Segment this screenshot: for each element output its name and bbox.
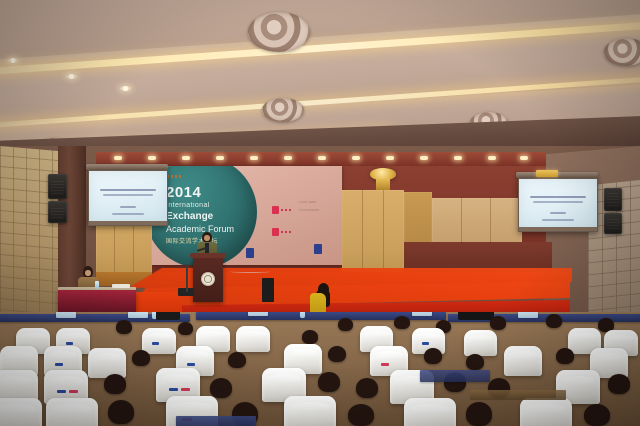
attendee-head [328, 346, 346, 362]
attendee-head [108, 400, 134, 424]
chair [464, 330, 497, 356]
audience-seating [0, 312, 640, 426]
cable [230, 270, 270, 273]
attendee-head [318, 372, 340, 392]
recessed-downlight [66, 74, 77, 79]
chair [504, 346, 542, 376]
chair [284, 396, 336, 426]
chair [142, 328, 176, 354]
attendee-head [466, 354, 484, 370]
banner-mark-label-icon [281, 231, 293, 233]
mic-stand [186, 264, 188, 292]
desk-row [420, 370, 490, 382]
wall-mounted-loudspeaker [604, 213, 622, 234]
wall-mounted-loudspeaker [604, 188, 622, 211]
attendee-head [466, 402, 492, 426]
attendee-head [338, 318, 353, 331]
attendee-head [546, 314, 562, 328]
crest-plaque [376, 179, 390, 190]
attendee-head [356, 378, 378, 398]
banner-year: 2014 [166, 184, 201, 201]
attendee-head [178, 322, 193, 335]
attendee-head [424, 348, 442, 364]
chair [0, 398, 42, 426]
auditorium-photo: 2014 International Exchange Academic For… [0, 0, 640, 426]
banner-sponsor-logo-icon [246, 248, 254, 258]
attendee-head [608, 374, 630, 394]
attendee-head [302, 330, 318, 344]
institution-seal-icon [201, 272, 215, 286]
recessed-downlight [8, 58, 18, 63]
banner-mark-icon [272, 206, 279, 214]
laptop[interactable] [518, 312, 538, 318]
stage-monitor [262, 278, 274, 302]
desk-row [176, 416, 256, 426]
equipment-case [156, 312, 180, 320]
stage-backdrop-banner: 2014 International Exchange Academic For… [151, 166, 342, 265]
exit-sign [536, 170, 558, 177]
laptop[interactable] [56, 312, 76, 318]
chair [236, 326, 270, 352]
desk-edge [470, 390, 566, 400]
attendee-head [210, 378, 232, 398]
left-projection-screen[interactable] [88, 170, 168, 226]
banner-side-text: 主办单位 / 協辦單位 [299, 202, 335, 205]
banner-logo-text-icon [167, 175, 181, 178]
air-diffuser [248, 12, 310, 52]
attendee-head [556, 348, 574, 364]
laptop[interactable] [412, 312, 432, 316]
chair [520, 398, 572, 426]
attendee-head [104, 374, 126, 394]
equipment-case [458, 312, 494, 320]
water-bottle [300, 312, 305, 318]
attendee-head [394, 316, 410, 329]
attendee-head [228, 352, 246, 368]
podium[interactable] [193, 256, 223, 302]
recessed-downlight [120, 86, 131, 91]
wall-mounted-loudspeaker [48, 174, 67, 199]
air-diffuser [604, 38, 640, 66]
laptop[interactable] [128, 312, 148, 318]
banner-mark-icon [272, 228, 279, 236]
banner-mark-label-icon [281, 209, 293, 211]
wall-mounted-loudspeaker [48, 201, 67, 223]
head-table [58, 290, 136, 314]
laptop[interactable] [248, 312, 268, 316]
chair [46, 398, 98, 426]
attendee-head [348, 404, 374, 426]
banner-line-exchange: Exchange [166, 211, 213, 222]
attendee-head [132, 350, 150, 366]
air-diffuser [262, 98, 304, 122]
water-bottle [95, 281, 99, 289]
attendee-head [490, 316, 506, 330]
chair [88, 348, 126, 378]
chair [404, 398, 456, 426]
papers [112, 284, 130, 288]
attendee-head [116, 320, 132, 334]
right-projection-screen[interactable] [518, 178, 598, 232]
banner-sponsor-logo-icon [314, 244, 322, 254]
banner-side-text: 学术交流合作项目说明 [299, 210, 335, 213]
attendee-head [584, 404, 610, 426]
banner-line-international: International [166, 202, 210, 209]
